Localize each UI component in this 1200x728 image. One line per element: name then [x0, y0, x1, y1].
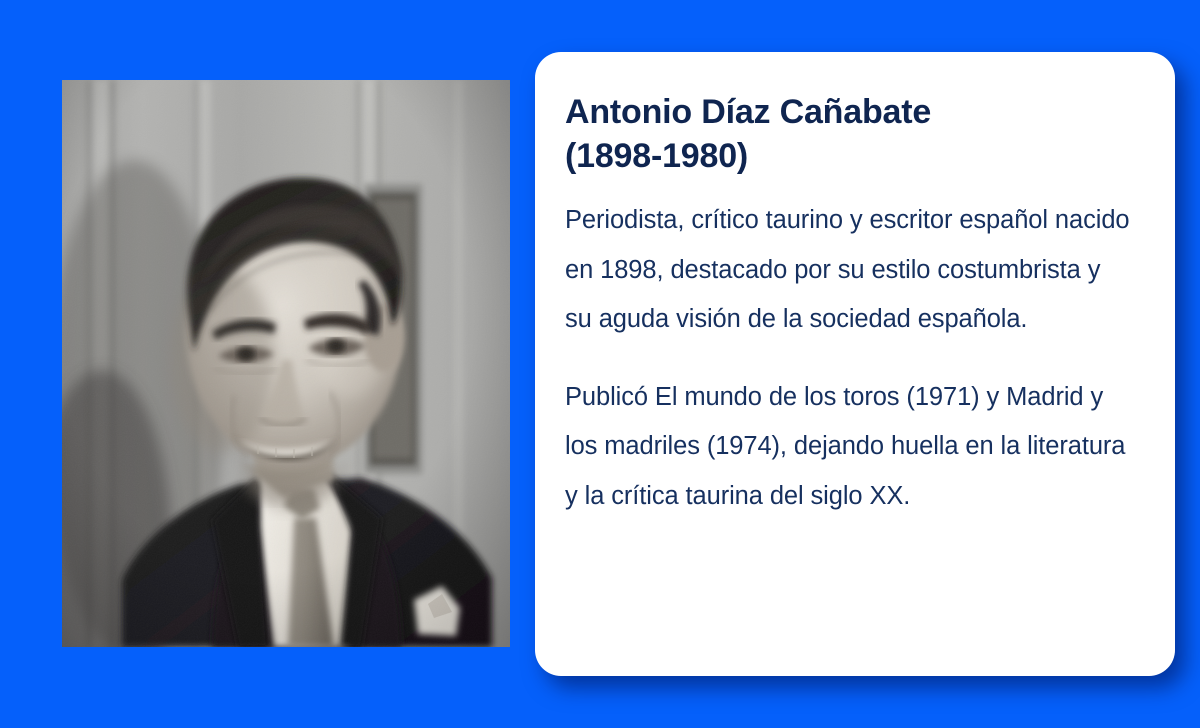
page-title: Antonio Díaz Cañabate (1898-1980) — [565, 90, 1133, 178]
portrait-photo-image — [62, 80, 510, 647]
biography-card: Antonio Díaz Cañabate (1898-1980) Period… — [535, 52, 1175, 676]
biography-paragraph-2: Publicó El mundo de los toros (1971) y M… — [565, 373, 1133, 522]
page-background: Antonio Díaz Cañabate (1898-1980) Period… — [0, 0, 1200, 728]
biography-paragraph-1: Periodista, crítico taurino y escritor e… — [565, 196, 1133, 345]
portrait-photo — [62, 80, 510, 647]
